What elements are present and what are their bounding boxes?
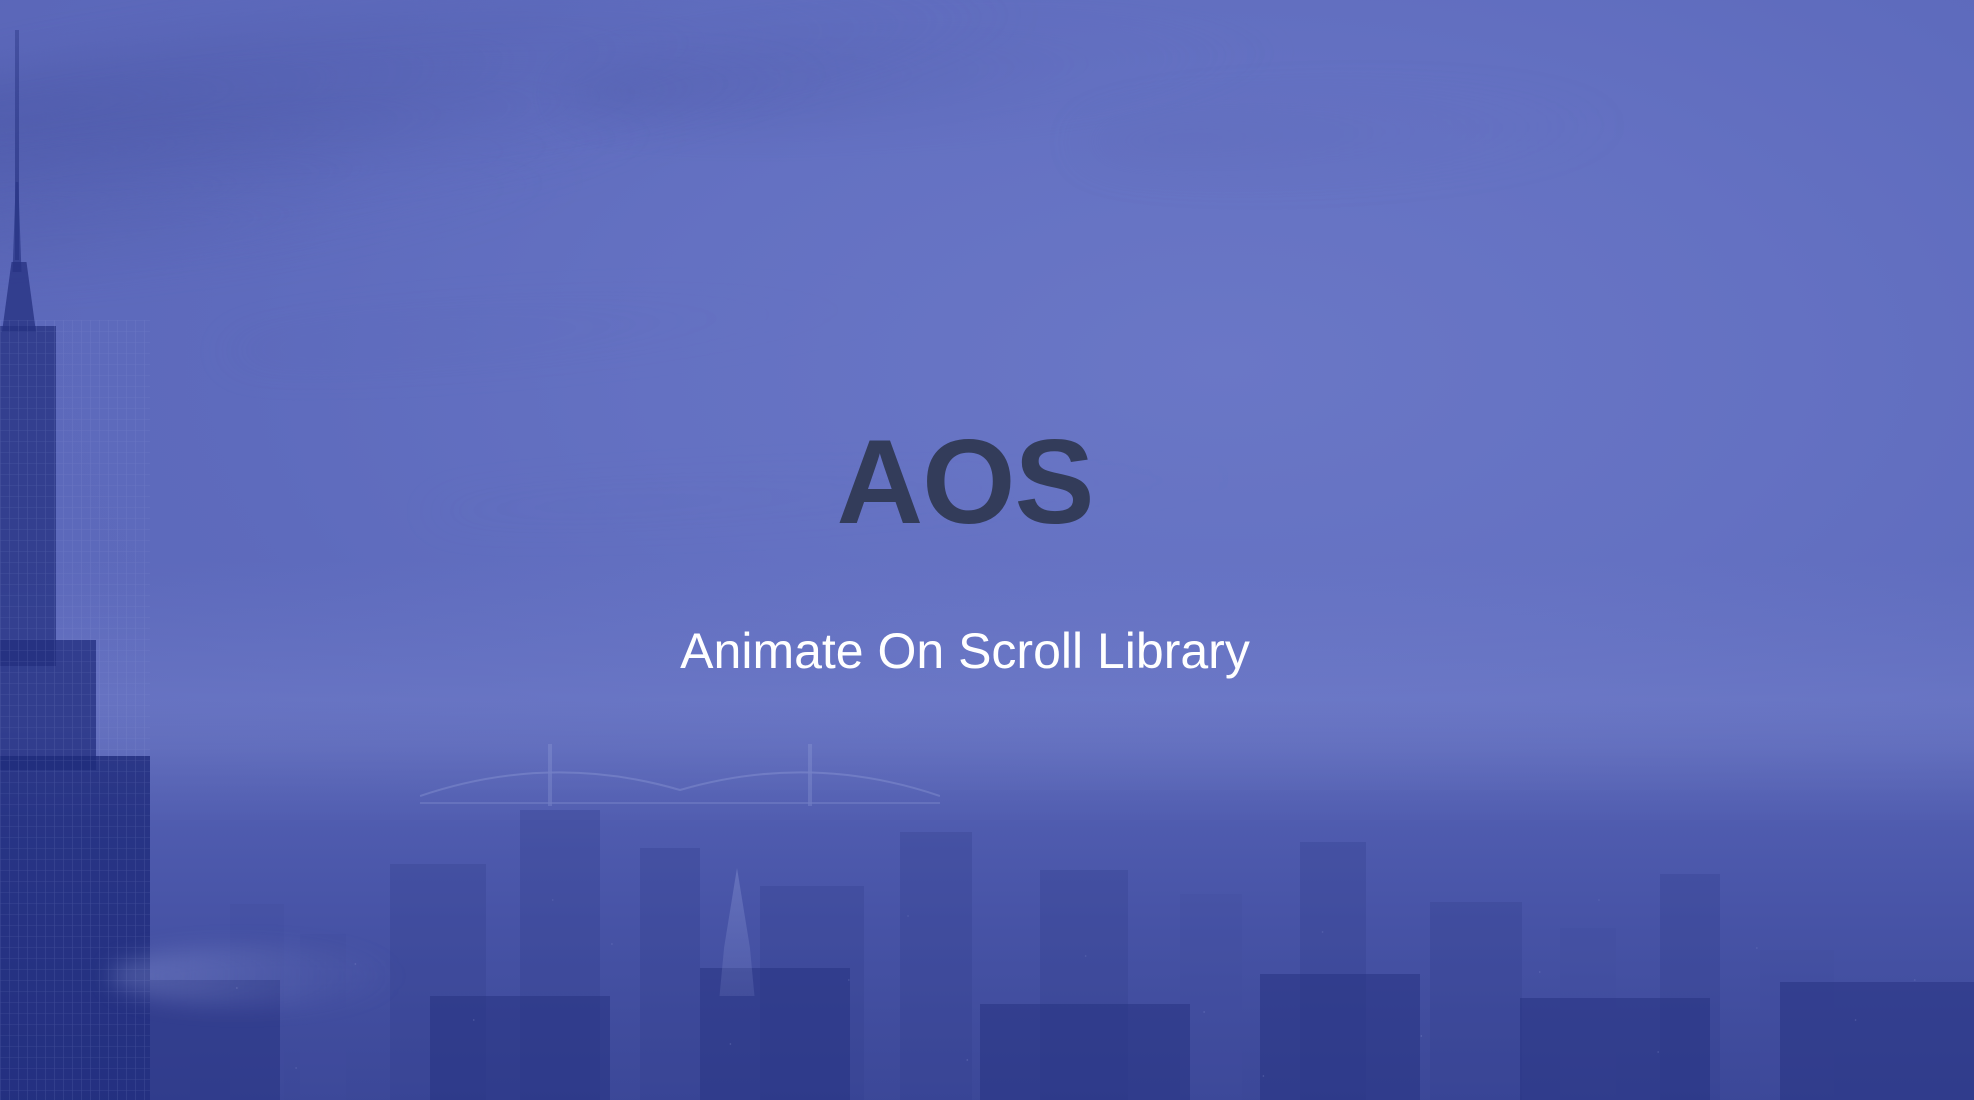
- hero-section: AOS Animate On Scroll Library: [0, 0, 1974, 1100]
- hero-content: AOS Animate On Scroll Library: [0, 0, 1930, 1100]
- page-title: AOS: [836, 422, 1093, 546]
- page-subtitle: Animate On Scroll Library: [680, 624, 1250, 679]
